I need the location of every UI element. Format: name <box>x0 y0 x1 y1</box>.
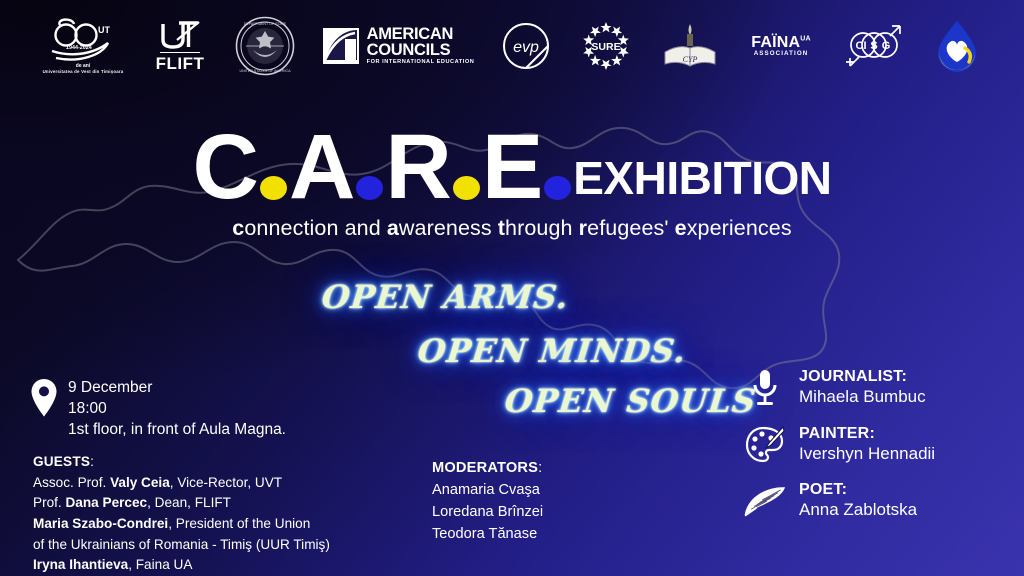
svg-text:CYP: CYP <box>683 55 698 64</box>
guest-name: Iryna Ihantieva <box>33 557 128 572</box>
moderator-name: Teodora Tănase <box>432 524 543 546</box>
american-councils-line2: COUNCILS <box>367 43 475 59</box>
journalist-role-label: JOURNALIST: <box>799 368 926 387</box>
cyp-logo: CYP <box>659 18 721 74</box>
american-councils-logo: AMERICAN COUNCILS FOR INTERNATIONAL EDUC… <box>319 27 477 66</box>
exhibition-label: EXHIBITION <box>573 159 831 198</box>
svg-text:DEPARTMENT OF STATE: DEPARTMENT OF STATE <box>244 22 287 26</box>
uvt-80-years-logo: UT 1944-2024 de ani Universitatea de Ves… <box>39 17 127 75</box>
poet-role-label: POET: <box>799 481 917 500</box>
neon-line-open-souls: OPEN SOULS <box>503 382 758 420</box>
painter-role-text: PAINTER <box>799 425 869 442</box>
guest-suffix: , Faina UA <box>128 557 192 572</box>
poet-name: Anna Zablotska <box>799 500 917 520</box>
guests-block: GUESTS: Assoc. Prof. Valy Ceia, Vice-Rec… <box>33 452 330 576</box>
care-dot-2 <box>356 176 383 200</box>
painter-role-label: PAINTER: <box>799 425 935 444</box>
poster-title-block: C A R E EXHIBITION connection and awaren… <box>0 128 1024 241</box>
svg-text:SURE: SURE <box>591 41 620 53</box>
subtitle-bold-r: r <box>579 216 587 240</box>
flift-logo: FLIFT <box>149 20 211 72</box>
guest-name: Maria Szabo-Condrei <box>33 516 168 531</box>
american-councils-sub: FOR INTERNATIONAL EDUCATION <box>367 59 475 65</box>
guests-heading-colon: : <box>90 454 94 469</box>
ukraine-heart-drop-logo <box>929 18 985 74</box>
poster-subtitle: connection and awareness through refugee… <box>0 216 1024 241</box>
faina-label: FAÏNAUA <box>751 35 811 50</box>
cisg-logo: CI S G <box>841 19 907 73</box>
subtitle-bold-c: c <box>232 216 244 240</box>
faina-ua-sup: UA <box>800 36 811 43</box>
venue-date: 9 December <box>68 378 286 399</box>
svg-text:UT: UT <box>98 25 110 35</box>
guest-suffix: , Dean, FLIFT <box>147 495 231 510</box>
moderator-name: Anamaria Cvaşa <box>432 480 543 502</box>
poet-role-text: POET <box>799 481 842 498</box>
subtitle-rest-4: xperiences <box>687 216 792 240</box>
venue-time: 18:00 <box>68 399 286 420</box>
care-exhibition-poster: UT 1944-2024 de ani Universitatea de Ves… <box>0 0 1024 576</box>
care-letter-c: C <box>193 128 258 206</box>
svg-text:CI: CI <box>856 40 867 52</box>
care-letter-a: A <box>289 128 354 206</box>
faina-ua-association-logo: FAÏNAUA ASSOCIATION <box>743 35 819 57</box>
person-poet: POET: Anna Zablotska <box>744 481 1014 520</box>
guest-suffix: , Vice-Rector, UVT <box>170 475 282 490</box>
guest-suffix: of the Ukrainians of Romania - Timiş (UU… <box>33 537 330 552</box>
guest-prefix: Assoc. Prof. <box>33 475 110 490</box>
person-painter: PAINTER: Ivershyn Hennadii <box>744 425 1014 464</box>
subtitle-rest-2: hrough <box>505 216 579 240</box>
moderator-name: Loredana Brînzei <box>432 502 543 524</box>
poet-colon: : <box>842 481 848 498</box>
guest-item: Maria Szabo-Condrei, President of the Un… <box>33 514 330 535</box>
svg-text:evp: evp <box>513 39 539 56</box>
care-letter-r: R <box>385 128 450 206</box>
care-dot-1 <box>260 176 287 200</box>
care-dot-3 <box>453 176 480 200</box>
guests-heading: GUESTS: <box>33 452 330 473</box>
venue-place: 1st floor, in front of Aula Magna. <box>68 420 286 441</box>
neon-line-open-minds: OPEN MINDS. <box>416 332 688 370</box>
svg-text:1944-2024: 1944-2024 <box>66 45 92 51</box>
subtitle-rest-3: efugees' <box>587 216 675 240</box>
care-acronym: C A R E EXHIBITION <box>0 128 1024 206</box>
subtitle-bold-a: a <box>387 216 399 240</box>
care-letter-e: E <box>482 128 542 206</box>
moderators-heading: MODERATORS: <box>432 458 543 480</box>
person-journalist: JOURNALIST: Mihaela Bumbuc <box>744 368 1014 408</box>
guest-item-continuation: of the Ukrainians of Romania - Timiş (UU… <box>33 535 330 556</box>
venue-block: 9 December 18:00 1st floor, in front of … <box>30 378 286 440</box>
painter-name: Ivershyn Hennadii <box>799 444 935 464</box>
guest-suffix: , President of the Union <box>168 516 310 531</box>
guest-item: Assoc. Prof. Valy Ceia, Vice-Rector, UVT <box>33 473 330 494</box>
guest-item: Prof. Dana Percec, Dean, FLIFT <box>33 493 330 514</box>
evp-logo: evp <box>499 21 553 71</box>
faina-association-label: ASSOCIATION <box>754 50 809 57</box>
microphone-icon <box>744 368 786 408</box>
subtitle-bold-t: t <box>498 216 505 240</box>
moderators-block: MODERATORS: Anamaria Cvaşa Loredana Brîn… <box>432 458 543 546</box>
moderators-heading-label: MODERATORS <box>432 460 538 476</box>
guest-prefix: Prof. <box>33 495 65 510</box>
guest-name: Valy Ceia <box>110 475 170 490</box>
neon-line-open-arms: OPEN ARMS. <box>320 278 571 316</box>
subtitle-bold-e: e <box>675 216 687 240</box>
guest-name: Dana Percec <box>65 495 147 510</box>
moderators-heading-colon: : <box>538 460 542 476</box>
subtitle-rest-1: wareness <box>399 216 498 240</box>
guest-item: Iryna Ihantieva, Faina UA <box>33 555 330 576</box>
subtitle-rest-0: onnection and <box>244 216 386 240</box>
partner-logo-strip: UT 1944-2024 de ani Universitatea de Ves… <box>0 0 1024 92</box>
sure-logo: SURE <box>575 18 637 74</box>
flift-label: FLIFT <box>156 55 205 72</box>
featured-people-block: JOURNALIST: Mihaela Bumbuc PAINTER: Iver… <box>744 368 1014 538</box>
faina-word: FAÏNA <box>751 34 800 51</box>
journalist-colon: : <box>901 368 907 385</box>
paint-palette-icon <box>744 426 786 464</box>
svg-text:UNITED STATES OF AMERICA: UNITED STATES OF AMERICA <box>240 69 292 73</box>
journalist-name: Mihaela Bumbuc <box>799 387 926 407</box>
care-dot-4 <box>544 176 571 200</box>
us-department-of-state-seal: DEPARTMENT OF STATE UNITED STATES OF AME… <box>233 16 297 76</box>
journalist-role-text: JOURNALIST <box>799 368 901 385</box>
uvt-name-label: Universitatea de Vest din Timișoara <box>43 69 124 75</box>
svg-text:G: G <box>882 40 891 52</box>
svg-text:S: S <box>870 40 877 52</box>
location-pin-icon <box>30 378 58 423</box>
guests-heading-label: GUESTS <box>33 454 90 469</box>
feather-quill-icon <box>744 484 786 518</box>
painter-colon: : <box>869 425 875 442</box>
